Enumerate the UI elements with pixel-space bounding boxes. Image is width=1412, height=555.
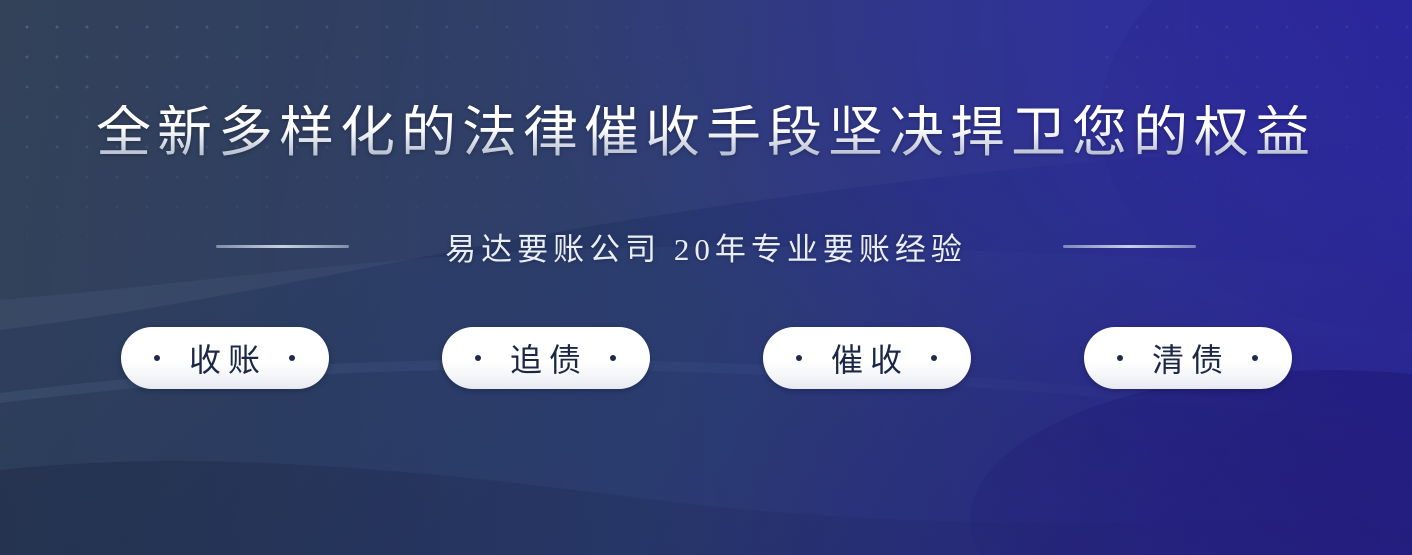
service-pill-qingzhai[interactable]: 清债 (1084, 327, 1292, 389)
bullet-dot-icon (796, 355, 802, 361)
hero-banner: 全新多样化的法律催收手段坚决捍卫您的权益 易达要账公司 20年专业要账经验 收账… (0, 0, 1412, 555)
service-pill-shouzhang[interactable]: 收账 (121, 327, 329, 389)
bullet-dot-icon (475, 355, 481, 361)
service-pill-label: 收账 (182, 335, 267, 381)
bullet-dot-icon (931, 355, 937, 361)
divider-right (1063, 245, 1196, 248)
bullet-dot-icon (1252, 355, 1258, 361)
bullet-dot-icon (610, 355, 616, 361)
service-pill-zhuizhai[interactable]: 追债 (442, 327, 650, 389)
divider-left (216, 245, 349, 248)
bullet-dot-icon (289, 355, 295, 361)
subtitle-row: 易达要账公司 20年专业要账经验 (216, 224, 1196, 269)
subtitle-text: 易达要账公司 20年专业要账经验 (445, 224, 967, 269)
banner-content: 全新多样化的法律催收手段坚决捍卫您的权益 易达要账公司 20年专业要账经验 收账… (0, 0, 1412, 555)
bullet-dot-icon (1117, 355, 1123, 361)
page-title: 全新多样化的法律催收手段坚决捍卫您的权益 (96, 105, 1316, 160)
service-pill-label: 催收 (824, 335, 909, 381)
service-pill-label: 清债 (1145, 335, 1230, 381)
service-pill-label: 追债 (503, 335, 588, 381)
service-pill-cuishou[interactable]: 催收 (763, 327, 971, 389)
service-pill-list: 收账 追债 催收 清债 (121, 327, 1292, 389)
bullet-dot-icon (154, 355, 160, 361)
